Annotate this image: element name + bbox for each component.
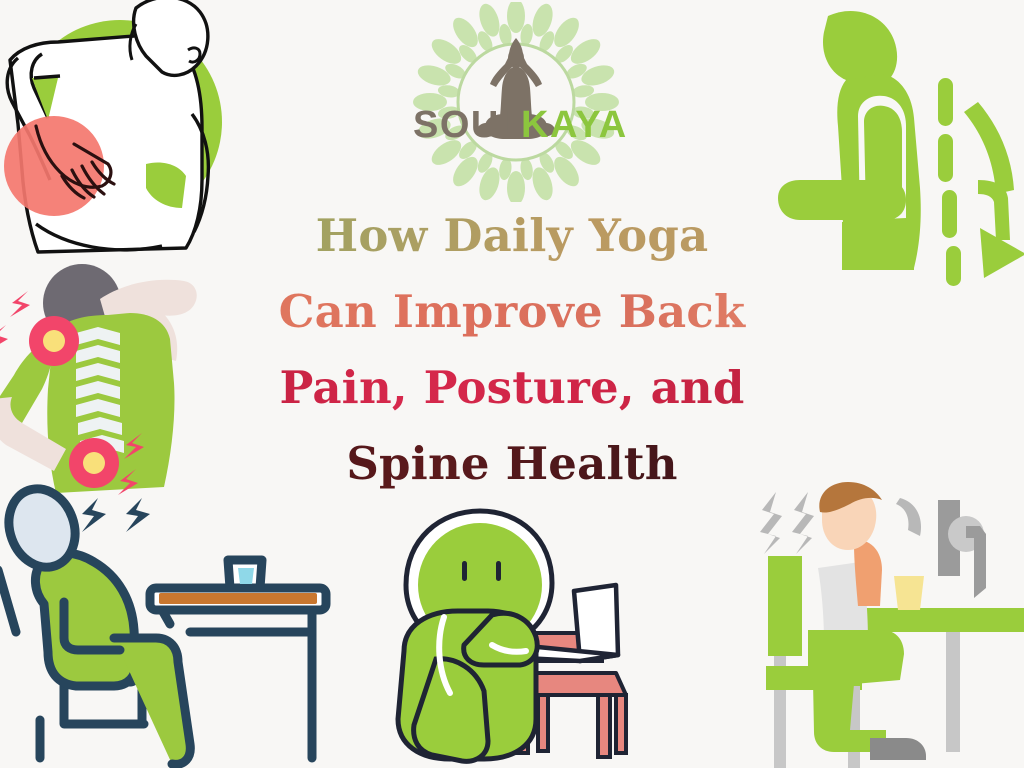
pain-bolt-icon [0, 291, 30, 351]
headline-line-3: Pain, Posture, and [232, 350, 792, 426]
banner-canvas: SOUL KAYA How Daily Yoga Can Improve Bac… [0, 0, 1024, 768]
wall-line [0, 570, 16, 632]
monitor [938, 500, 986, 598]
soul-kaya-logo[interactable]: SOUL KAYA [397, 2, 635, 202]
cup [894, 576, 924, 610]
illustration-posture-spine-alignment [774, 8, 1024, 308]
logo-word-soul: SOUL [413, 104, 525, 146]
headline-line-1: How Daily Yoga [232, 198, 792, 274]
logo-word-kaya: KAYA [521, 104, 628, 146]
illustration-slouching-at-computer [750, 480, 1024, 768]
arm [778, 180, 906, 220]
illustration-hunched-over-laptop [388, 505, 656, 768]
illustration-man-holding-lower-back [0, 0, 242, 262]
page-title: How Daily Yoga Can Improve Back Pain, Po… [232, 198, 792, 502]
spine-curve-arrow [964, 102, 1024, 278]
pain-bolt-icon [82, 498, 150, 532]
eye-right [496, 561, 501, 581]
dashed-plumb-line [938, 78, 961, 286]
green-character [398, 511, 552, 761]
headline-line-2: Can Improve Back [232, 274, 792, 350]
pain-ring-neck [29, 316, 79, 366]
eye-left [462, 561, 467, 581]
illustration-spine-pain-points [0, 255, 228, 507]
illustration-slouching-at-desk [0, 480, 346, 768]
logo-wordmark: SOUL KAYA [413, 104, 628, 146]
